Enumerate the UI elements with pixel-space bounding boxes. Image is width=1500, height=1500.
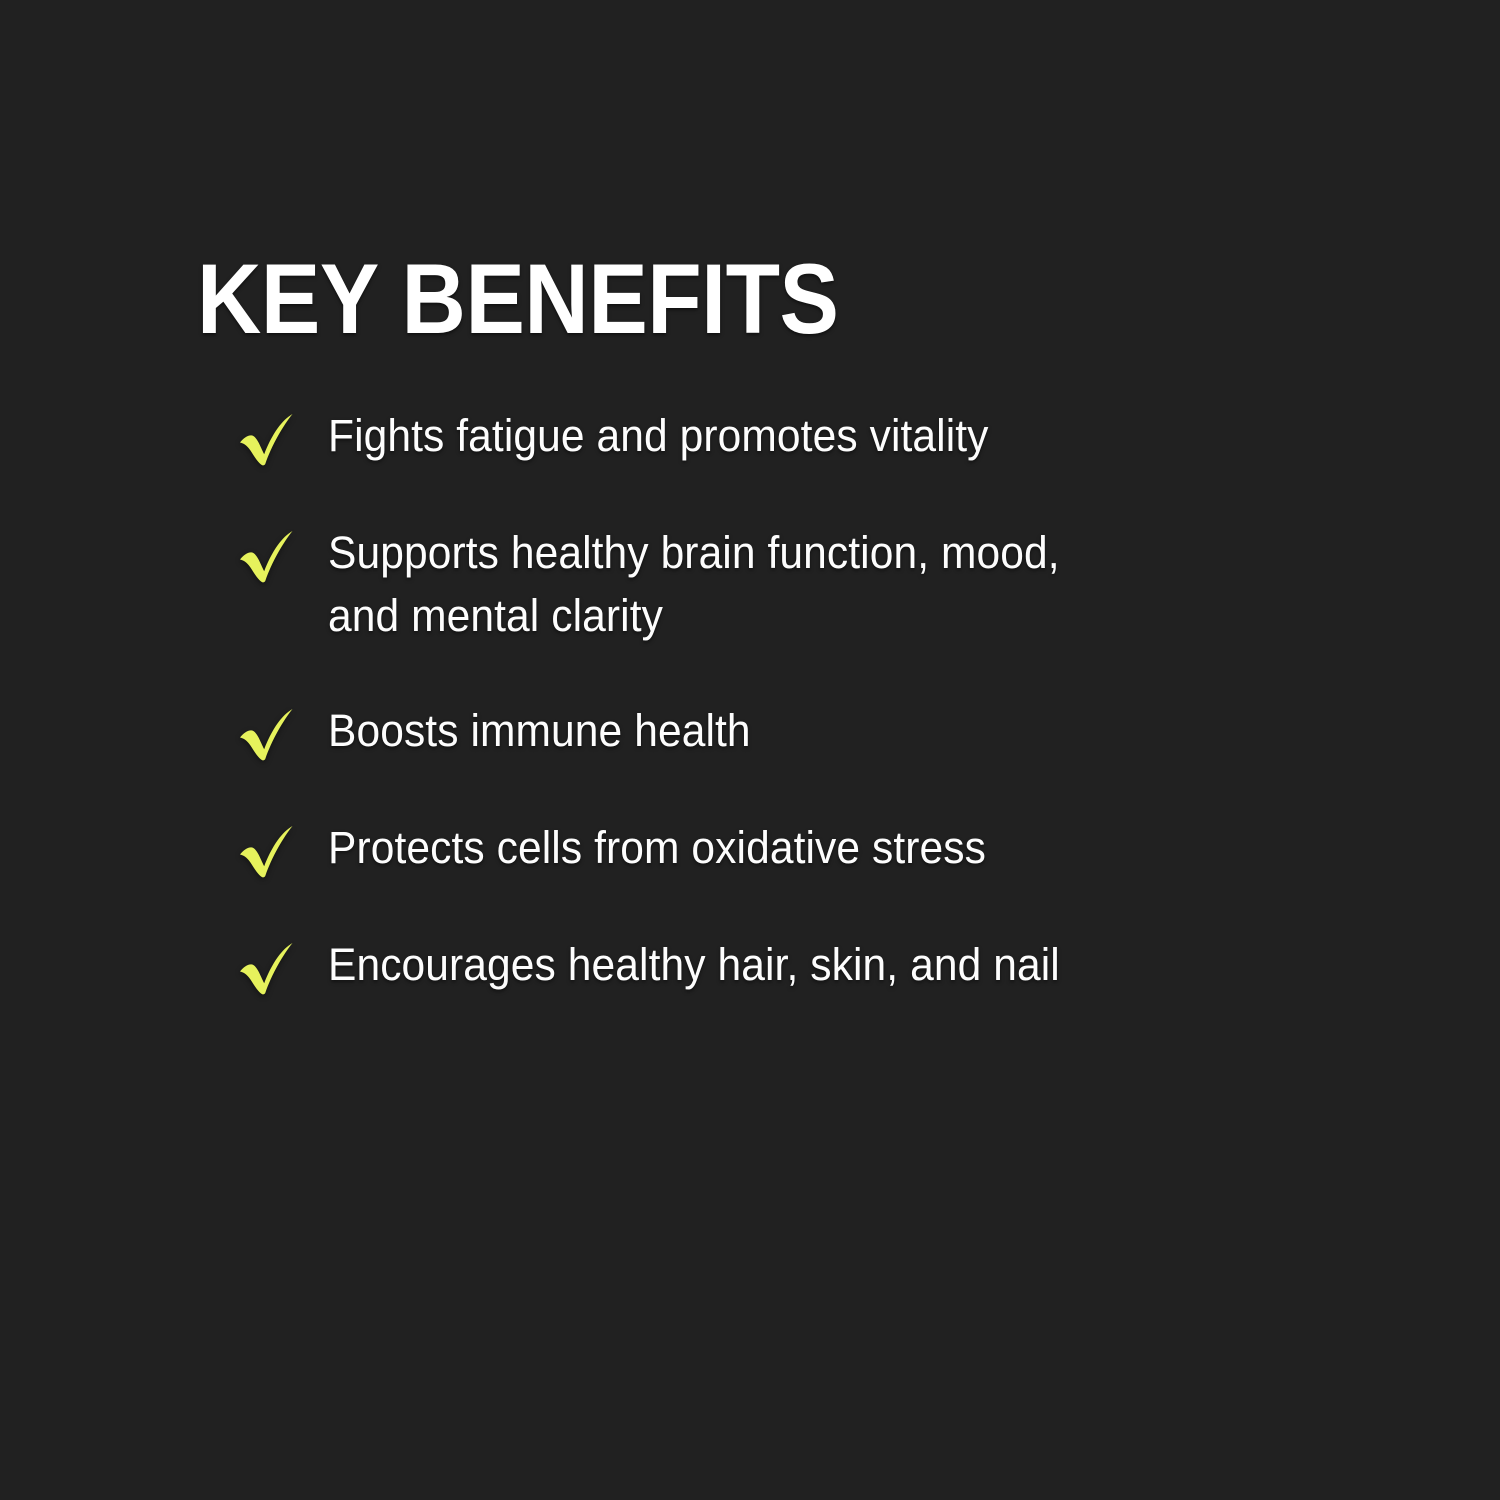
check-icon	[236, 707, 298, 769]
list-item-label: Boosts immune health	[328, 699, 1186, 762]
list-item-label: Supports healthy brain function, mood, a…	[328, 521, 1186, 647]
slide-canvas: KEY BENEFITS Fights fatigue and promotes…	[0, 0, 1500, 1500]
list-item: Encourages healthy hair, skin, and nail	[236, 933, 1236, 996]
list-item: Supports healthy brain function, mood, a…	[236, 521, 1236, 647]
list-item: Protects cells from oxidative stress	[236, 816, 1236, 879]
page-title: KEY BENEFITS	[197, 249, 839, 348]
list-item-label: Encourages healthy hair, skin, and nail	[328, 933, 1186, 996]
benefits-list: Fights fatigue and promotes vitality Sup…	[236, 404, 1236, 996]
list-item: Fights fatigue and promotes vitality	[236, 404, 1236, 467]
list-item: Boosts immune health	[236, 699, 1236, 762]
list-item-label: Fights fatigue and promotes vitality	[328, 404, 1186, 467]
list-item-label: Protects cells from oxidative stress	[328, 816, 1186, 879]
check-icon	[236, 412, 298, 474]
check-icon	[236, 941, 298, 1003]
check-icon	[236, 529, 298, 591]
check-icon	[236, 824, 298, 886]
